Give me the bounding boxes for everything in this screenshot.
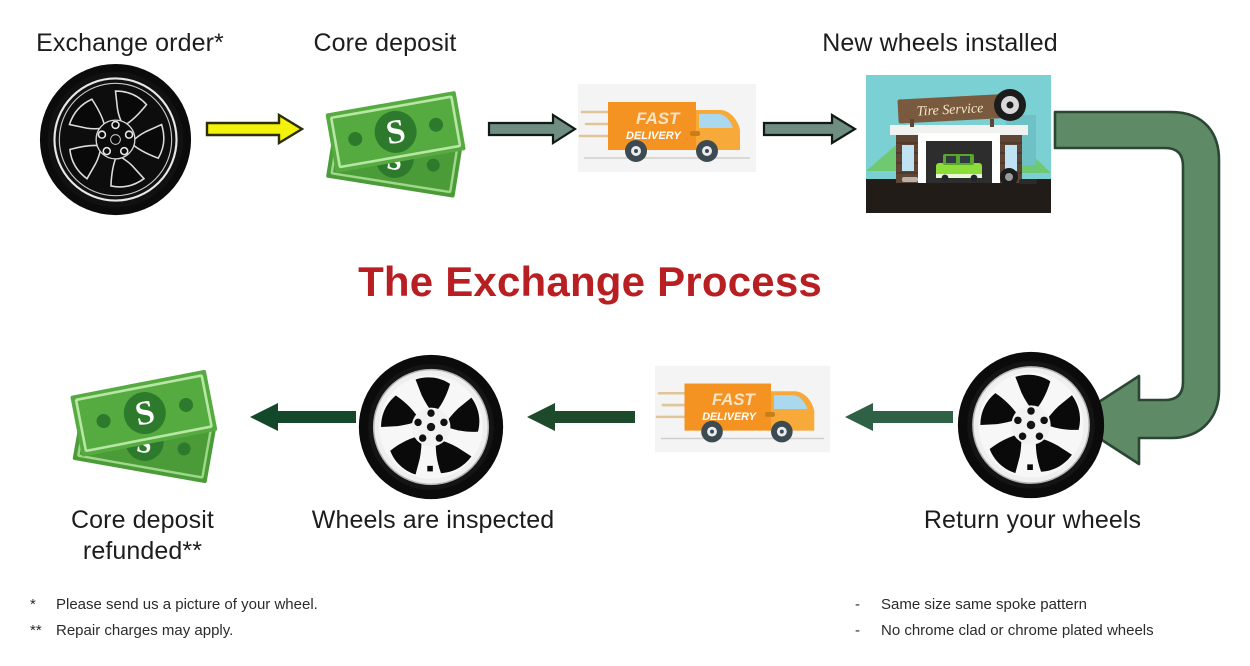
notes-left: * Please send us a picture of your wheel… <box>30 592 318 645</box>
truck-text-fast: FAST <box>636 109 681 128</box>
label-core-deposit-refunded-line2: refunded** <box>35 536 250 567</box>
arrow-truck-to-inspection <box>525 402 637 432</box>
exchange-process-diagram: Exchange order* Core deposit New wheels … <box>0 0 1250 666</box>
note-left-2-text: Repair charges may apply. <box>56 618 233 644</box>
note-right-2-text: No chrome clad or chrome plated wheels <box>881 618 1154 644</box>
truck-text-delivery: DELIVERY <box>702 411 758 423</box>
notes-right: - Same size same spoke pattern - No chro… <box>855 592 1154 645</box>
note-right-1-mark: - <box>855 592 881 618</box>
label-core-deposit: Core deposit <box>285 28 485 59</box>
note-left-1-mark: * <box>30 592 56 618</box>
note-right-2: - No chrome clad or chrome plated wheels <box>855 618 1154 644</box>
wheel-icon-inspected <box>357 353 505 501</box>
arrow-deposit-to-truck <box>487 113 577 145</box>
money-icon-core-deposit: S S <box>310 72 480 202</box>
delivery-truck-icon-outbound: FAST DELIVERY <box>578 84 756 172</box>
arrow-return-to-truck <box>843 402 955 432</box>
arrow-inspection-to-refund <box>248 402 358 432</box>
note-left-1: * Please send us a picture of your wheel… <box>30 592 318 618</box>
arrow-order-to-deposit <box>205 112 305 146</box>
arrow-truck-to-shop <box>762 113 857 145</box>
truck-text-delivery: DELIVERY <box>626 130 682 142</box>
note-right-2-mark: - <box>855 618 881 644</box>
note-left-1-text: Please send us a picture of your wheel. <box>56 592 318 618</box>
label-wheels-are-inspected: Wheels are inspected <box>288 505 578 536</box>
note-right-1: - Same size same spoke pattern <box>855 592 1154 618</box>
note-left-2-mark: ** <box>30 618 56 644</box>
label-core-deposit-refunded-line1: Core deposit <box>35 505 250 536</box>
money-icon-refund: S S <box>55 352 235 487</box>
page-title: The Exchange Process <box>330 258 850 306</box>
wheel-icon-return <box>956 350 1106 500</box>
truck-text-fast: FAST <box>712 390 756 409</box>
label-return-your-wheels: Return your wheels <box>890 505 1175 536</box>
tire-service-shop-icon: Tire Service <box>866 75 1051 213</box>
note-left-2: ** Repair charges may apply. <box>30 618 318 644</box>
wheel-icon-exchange-order <box>38 62 193 217</box>
delivery-truck-icon-inbound: FAST DELIVERY <box>655 365 830 453</box>
label-new-wheels-installed: New wheels installed <box>805 28 1075 59</box>
note-right-1-text: Same size same spoke pattern <box>881 592 1087 618</box>
label-exchange-order: Exchange order* <box>0 28 260 59</box>
label-core-deposit-refunded: Core deposit refunded** <box>35 505 250 566</box>
